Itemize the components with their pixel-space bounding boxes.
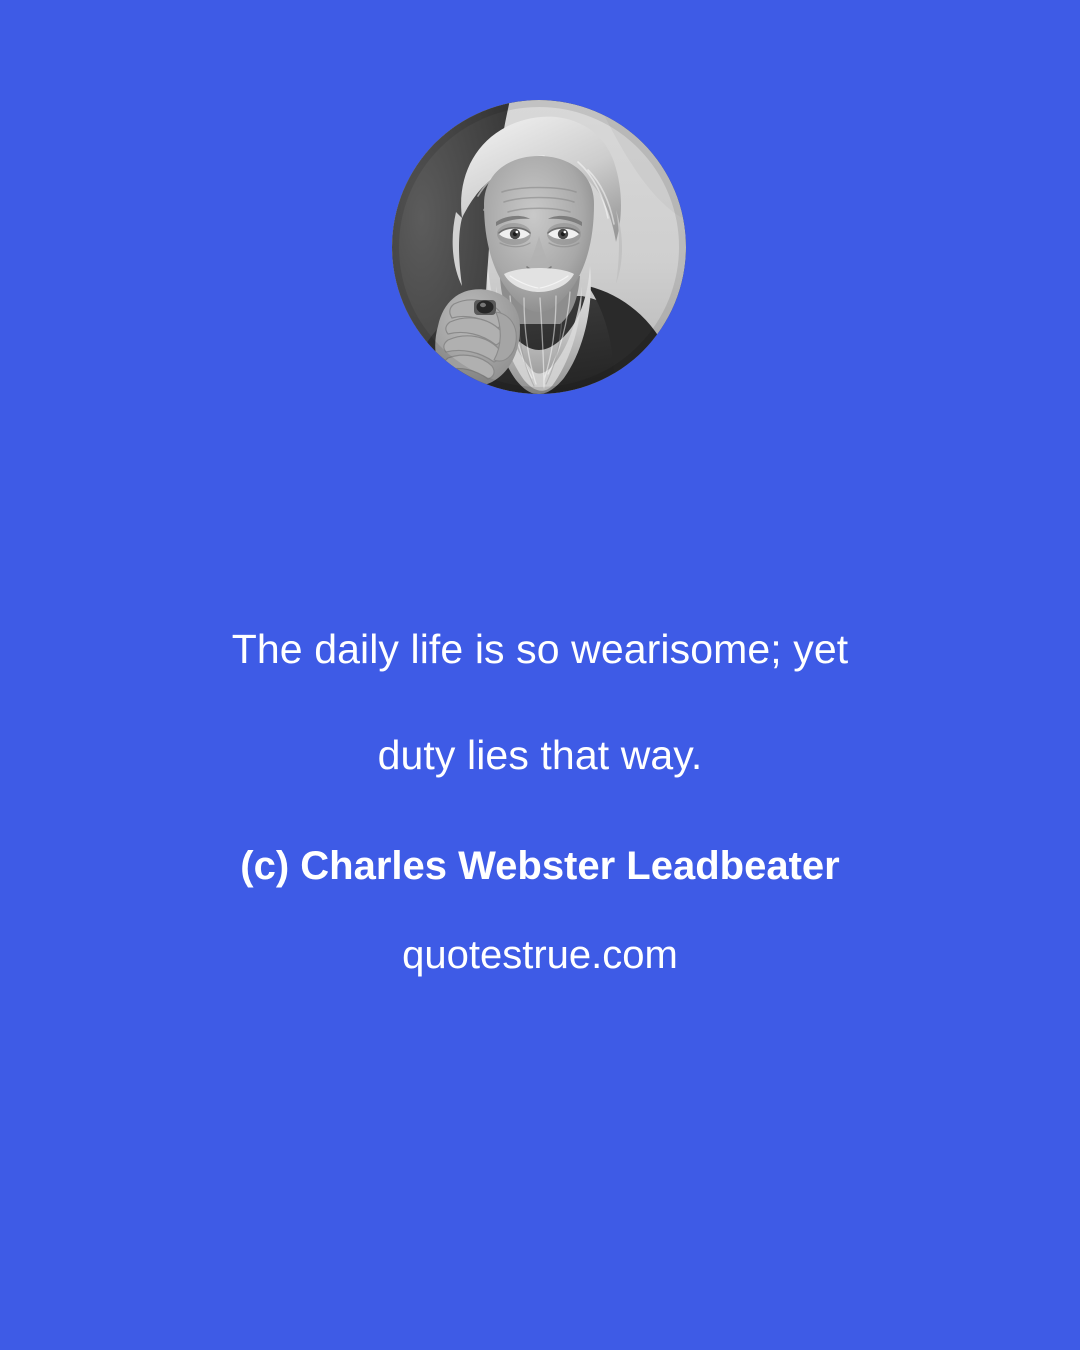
source-website: quotestrue.com [50,892,1030,980]
quote-body: The daily life is so wearisome; yet duty… [100,596,980,808]
portrait-photo-image [392,100,686,394]
quote-text-block: The daily life is so wearisome; yet duty… [0,596,1080,980]
author-portrait-avatar [392,100,686,394]
quote-attribution: (c) Charles Webster Leadbeater [50,808,1030,892]
quote-card: The daily life is so wearisome; yet duty… [0,0,1080,1350]
